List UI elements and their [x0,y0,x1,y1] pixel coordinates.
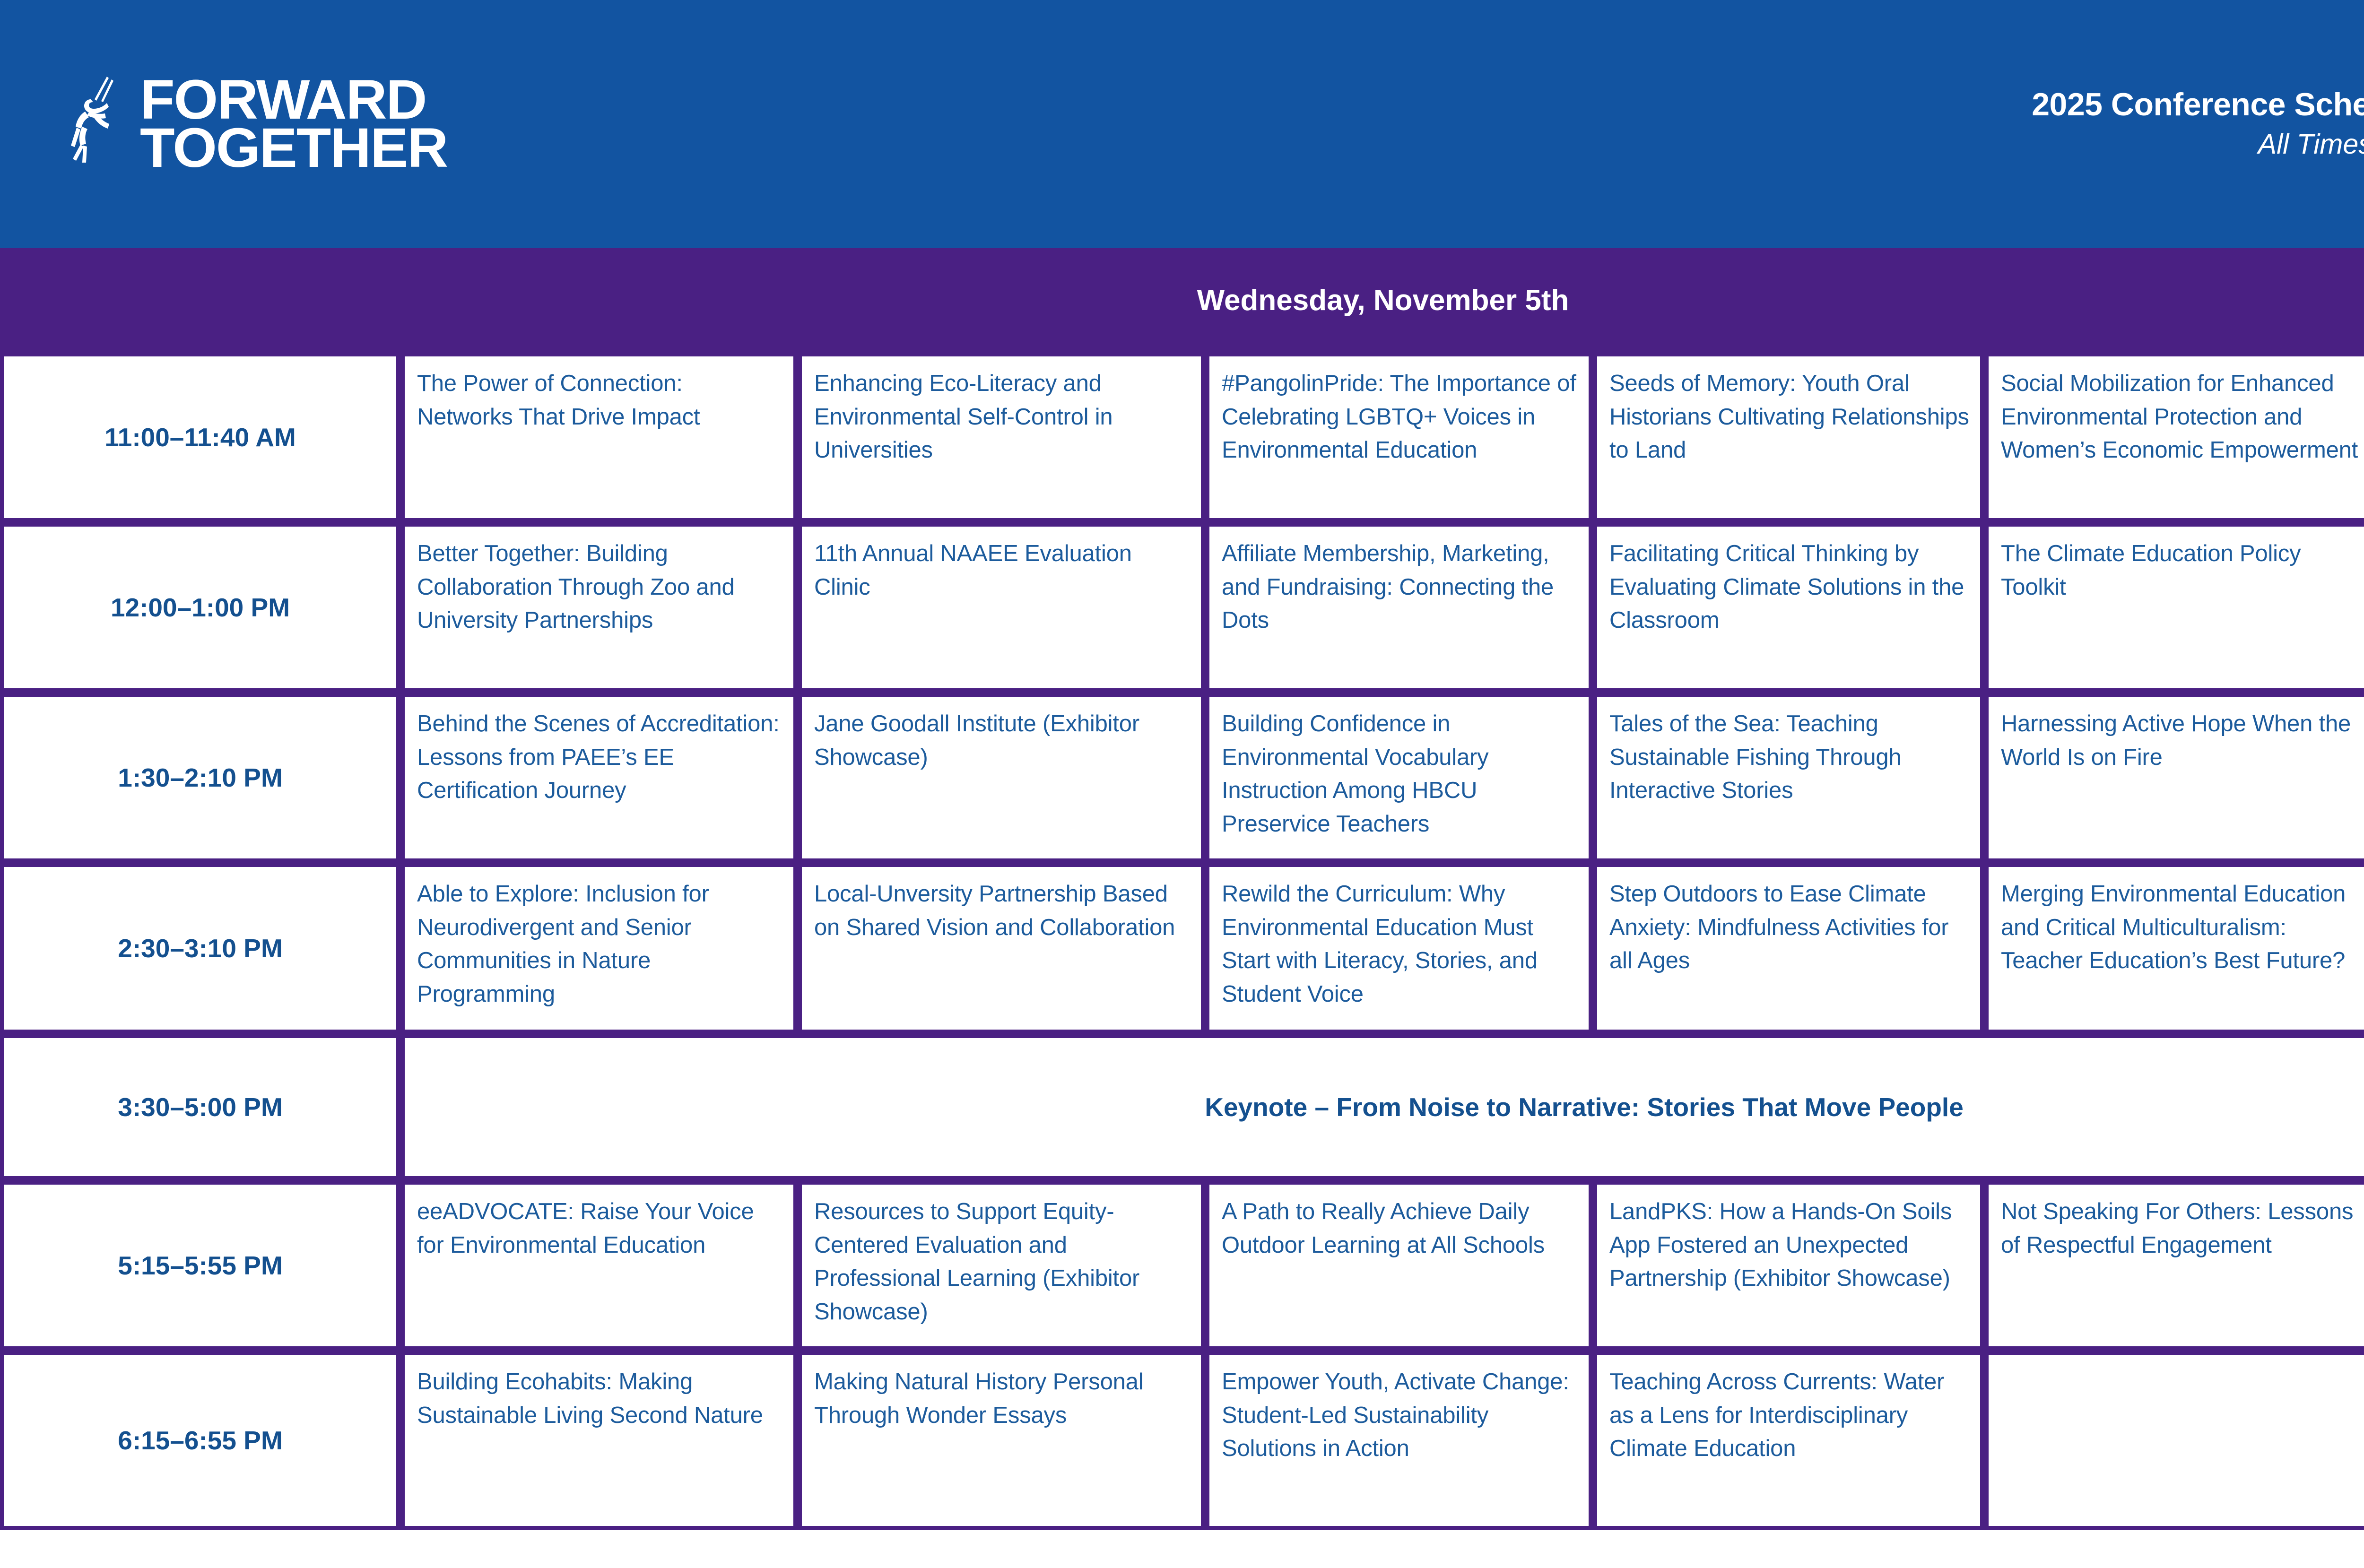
praying-mantis-icon [66,75,137,174]
session-title: A Path to Really Achieve Daily Outdoor L… [1222,1195,1578,1262]
session-title: Building Confidence in Environmental Voc… [1222,707,1578,840]
time-slot-label: 12:00–1:00 PM [111,593,290,622]
session-title: Rewild the Curriculum: Why Environmental… [1222,877,1578,1011]
session-title: 11th Annual NAAEE Evaluation Clinic [814,537,1191,604]
time-slot-cell: 1:30–2:10 PM [0,693,400,863]
session-title: Facilitating Critical Thinking by Evalua… [1609,537,1970,637]
table-row: 1:30–2:10 PM Behind the Scenes of Accred… [0,693,2364,863]
session-cell[interactable]: Rewild the Curriculum: Why Environmental… [1205,863,1593,1034]
session-title: Making Natural History Personal Through … [814,1365,1191,1432]
day-banner: Wednesday, November 5th [0,248,2364,352]
session-title: #PangolinPride: The Importance of Celebr… [1222,367,1578,467]
table-row: 12:00–1:00 PM Better Together: Building … [0,522,2364,693]
time-slot-label: 3:30–5:00 PM [118,1092,283,1122]
time-slot-cell: 6:15–6:55 PM [0,1351,400,1530]
session-cell[interactable]: Tales of the Sea: Teaching Sustainable F… [1593,693,1984,863]
page-title: 2025 Conference Schedule of Sessions (Li… [2032,87,2364,122]
schedule-page: FORWARD TOGETHER 2025 Conference Schedul… [0,0,2364,1568]
session-cell[interactable]: Harnessing Active Hope When the World Is… [1984,693,2364,863]
time-slot-cell: 3:30–5:00 PM [0,1034,400,1180]
session-title: Enhancing Eco-Literacy and Environmental… [814,367,1191,467]
session-cell[interactable]: Building Ecohabits: Making Sustainable L… [400,1351,798,1530]
session-title: Affiliate Membership, Marketing, and Fun… [1222,537,1578,637]
session-cell[interactable]: Able to Explore: Inclusion for Neurodive… [400,863,798,1034]
session-cell[interactable]: Step Outdoors to Ease Climate Anxiety: M… [1593,863,1984,1034]
session-title: Empower Youth, Activate Change: Student-… [1222,1365,1578,1465]
session-title: Not Speaking For Others: Lessons of Resp… [2001,1195,2363,1262]
session-title: Merging Environmental Education and Crit… [2001,877,2363,978]
keynote-cell[interactable]: Keynote – From Noise to Narrative: Stori… [400,1034,2364,1180]
session-title: Jane Goodall Institute (Exhibitor Showca… [814,707,1191,774]
time-slot-cell: 5:15–5:55 PM [0,1180,400,1351]
keynote-title: Keynote – From Noise to Narrative: Stori… [1205,1092,1964,1122]
session-cell[interactable]: Enhancing Eco-Literacy and Environmental… [798,352,1205,522]
session-cell[interactable]: Jane Goodall Institute (Exhibitor Showca… [798,693,1205,863]
session-cell[interactable]: Building Confidence in Environmental Voc… [1205,693,1593,863]
schedule-table-body: 11:00–11:40 AM The Power of Connection: … [0,352,2364,1530]
table-row: 11:00–11:40 AM The Power of Connection: … [0,352,2364,522]
session-cell[interactable]: A Path to Really Achieve Daily Outdoor L… [1205,1180,1593,1351]
logo-line-together: TOGETHER [140,124,447,172]
table-row: 6:15–6:55 PM Building Ecohabits: Making … [0,1351,2364,1530]
session-title: Teaching Across Currents: Water as a Len… [1609,1365,1970,1465]
table-row: 5:15–5:55 PM eeADVOCATE: Raise Your Voic… [0,1180,2364,1351]
session-title: Resources to Support Equity-Centered Eva… [814,1195,1191,1328]
schedule-table: 11:00–11:40 AM The Power of Connection: … [0,352,2364,1530]
time-slot-label: 1:30–2:10 PM [118,763,283,792]
session-title: Tales of the Sea: Teaching Sustainable F… [1609,707,1970,807]
session-cell[interactable]: Local-Unversity Partnership Based on Sha… [798,863,1205,1034]
session-cell[interactable]: LandPKS: How a Hands-On Soils App Foster… [1593,1180,1984,1351]
session-title: LandPKS: How a Hands-On Soils App Foster… [1609,1195,1970,1295]
time-slot-cell: 11:00–11:40 AM [0,352,400,522]
session-title: Able to Explore: Inclusion for Neurodive… [417,877,783,1011]
session-title: Local-Unversity Partnership Based on Sha… [814,877,1191,944]
session-cell[interactable]: eeADVOCATE: Raise Your Voice for Environ… [400,1180,798,1351]
page-header: FORWARD TOGETHER 2025 Conference Schedul… [0,0,2364,248]
session-title: Building Ecohabits: Making Sustainable L… [417,1365,783,1432]
session-title: Seeds of Memory: Youth Oral Historians C… [1609,367,1970,467]
session-cell[interactable]: Social Mobilization for Enhanced Environ… [1984,352,2364,522]
time-slot-cell: 2:30–3:10 PM [0,863,400,1034]
time-slot-cell: 12:00–1:00 PM [0,522,400,693]
timezone-note: All Times are Eastern Standard Time [2032,127,2364,162]
session-title: Better Together: Building Collaboration … [417,537,783,637]
session-title: eeADVOCATE: Raise Your Voice for Environ… [417,1195,783,1262]
table-row-keynote: 3:30–5:00 PM Keynote – From Noise to Nar… [0,1034,2364,1180]
forward-together-logo: FORWARD TOGETHER [0,75,441,174]
session-cell[interactable]: Affiliate Membership, Marketing, and Fun… [1205,522,1593,693]
session-cell[interactable]: 11th Annual NAAEE Evaluation Clinic [798,522,1205,693]
session-cell-empty[interactable] [1984,1351,2364,1530]
session-cell[interactable]: Better Together: Building Collaboration … [400,522,798,693]
session-cell[interactable]: Teaching Across Currents: Water as a Len… [1593,1351,1984,1530]
session-cell[interactable]: The Power of Connection: Networks That D… [400,352,798,522]
session-title: The Climate Education Policy Toolkit [2001,537,2363,604]
time-slot-label: 11:00–11:40 AM [104,423,296,452]
session-cell[interactable]: Making Natural History Personal Through … [798,1351,1205,1530]
session-cell[interactable]: Resources to Support Equity-Centered Eva… [798,1180,1205,1351]
table-row: 2:30–3:10 PM Able to Explore: Inclusion … [0,863,2364,1034]
session-cell[interactable]: Not Speaking For Others: Lessons of Resp… [1984,1180,2364,1351]
time-slot-label: 2:30–3:10 PM [118,934,283,963]
day-banner-label: Wednesday, November 5th [1197,284,1569,317]
session-title: Harnessing Active Hope When the World Is… [2001,707,2363,774]
session-cell[interactable]: The Climate Education Policy Toolkit [1984,522,2364,693]
session-cell[interactable]: Empower Youth, Activate Change: Student-… [1205,1351,1593,1530]
session-cell[interactable]: #PangolinPride: The Importance of Celebr… [1205,352,1593,522]
session-cell[interactable]: Facilitating Critical Thinking by Evalua… [1593,522,1984,693]
session-title: Social Mobilization for Enhanced Environ… [2001,367,2363,467]
time-slot-label: 6:15–6:55 PM [118,1426,283,1455]
session-cell[interactable]: Merging Environmental Education and Crit… [1984,863,2364,1034]
session-cell[interactable]: Behind the Scenes of Accreditation: Less… [400,693,798,863]
header-title-block: 2025 Conference Schedule of Sessions (Li… [2032,87,2364,162]
time-slot-label: 5:15–5:55 PM [118,1251,283,1280]
session-title: The Power of Connection: Networks That D… [417,367,783,433]
session-cell[interactable]: Seeds of Memory: Youth Oral Historians C… [1593,352,1984,522]
session-title: Behind the Scenes of Accreditation: Less… [417,707,783,807]
session-title: Step Outdoors to Ease Climate Anxiety: M… [1609,877,1970,978]
